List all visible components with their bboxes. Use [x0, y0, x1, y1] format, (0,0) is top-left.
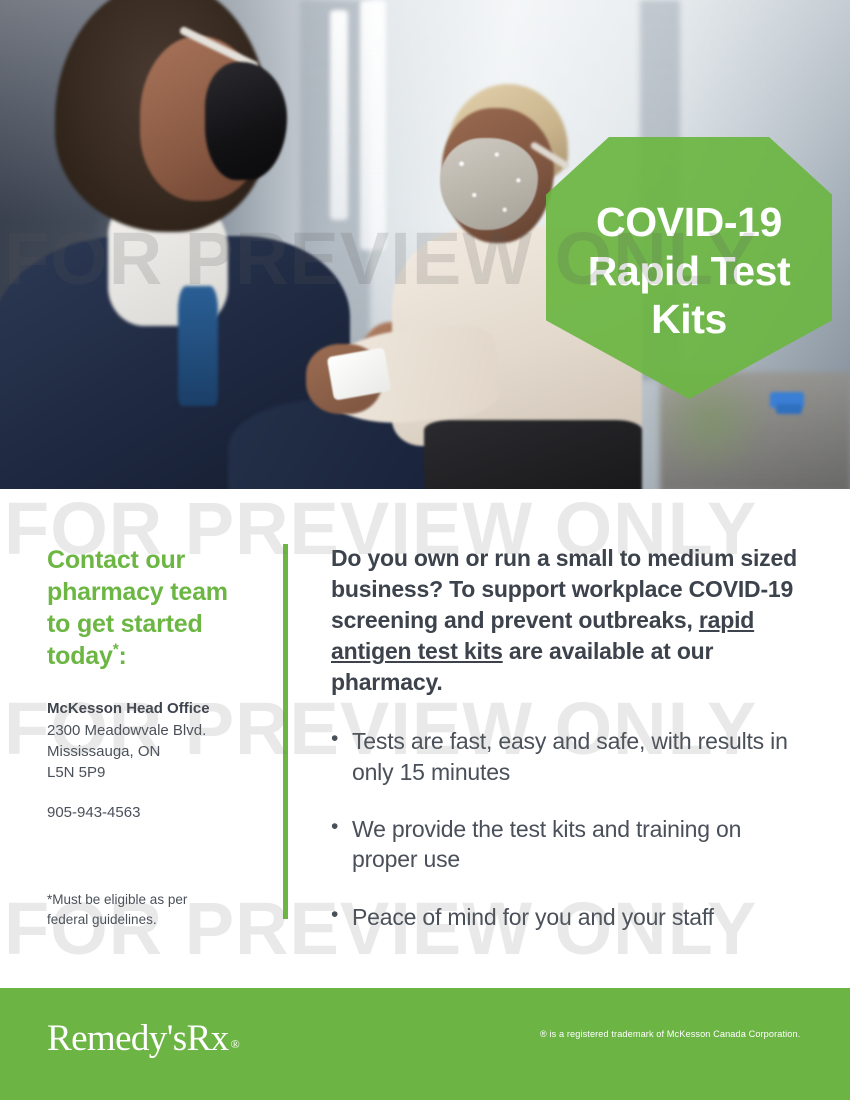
intro-paragraph: Do you own or run a small to medium size…: [331, 543, 801, 698]
poster: COVID-19 Rapid Test Kits Contact our pha…: [0, 0, 850, 1100]
contact-heading-line-3: to get started: [47, 610, 203, 638]
contact-heading-line-2: pharmacy team: [47, 578, 228, 606]
vertical-divider: [283, 544, 288, 919]
list-item: We provide the test kits and training on…: [331, 814, 801, 875]
address-line-3: L5N 5P9: [47, 762, 265, 783]
badge-line-2: Rapid Test: [588, 247, 791, 295]
main-column: Do you own or run a small to medium size…: [331, 543, 801, 959]
phone-number[interactable]: 905-943-4563: [47, 804, 265, 821]
list-item: Peace of mind for you and your staff: [331, 902, 801, 932]
logo-wordmark: Remedy'sRx: [47, 1018, 229, 1059]
woman-skirt: [424, 420, 642, 489]
footnote-line-2: federal guidelines.: [47, 912, 157, 927]
man-tie: [178, 286, 218, 406]
badge-line-1: COVID-19: [596, 198, 782, 246]
trademark-notice: ® is a registered trademark of McKesson …: [540, 1029, 800, 1039]
contact-heading: Contact our pharmacy team to get started…: [47, 544, 265, 672]
footer-bar: Remedy'sRx® ® is a registered trademark …: [0, 988, 850, 1100]
window-light: [330, 10, 348, 220]
eligibility-footnote: *Must be eligible as per federal guideli…: [47, 890, 262, 931]
badge-line-3: Kits: [651, 295, 727, 343]
office-name: McKesson Head Office: [47, 698, 265, 720]
remedysrx-logo: Remedy'sRx®: [47, 1017, 239, 1060]
contact-heading-colon: :: [119, 642, 127, 670]
window-light: [360, 0, 386, 250]
footnote-line-1: *Must be eligible as per: [47, 892, 187, 907]
registered-trademark-icon: ®: [231, 1037, 240, 1051]
contact-heading-line-4: today: [47, 642, 113, 670]
signage-accent: [776, 404, 802, 414]
contact-heading-line-1: Contact our: [47, 546, 185, 574]
covid-badge-text: COVID-19 Rapid Test Kits: [546, 137, 832, 399]
list-item: Tests are fast, easy and safe, with resu…: [331, 726, 801, 787]
man-face-mask: [205, 62, 287, 180]
address-line-2: Mississauga, ON: [47, 741, 265, 762]
address-line-1: 2300 Meadowvale Blvd.: [47, 720, 265, 741]
benefits-list: Tests are fast, easy and safe, with resu…: [331, 726, 801, 932]
contact-column: Contact our pharmacy team to get started…: [47, 544, 265, 821]
content-area: Contact our pharmacy team to get started…: [0, 489, 850, 988]
